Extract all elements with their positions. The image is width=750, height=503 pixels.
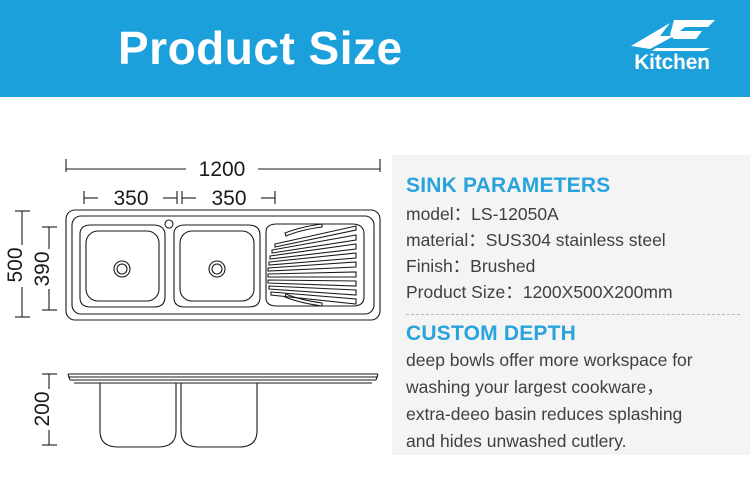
sink-front-view xyxy=(68,374,378,447)
spec-row-product-size: Product Size：1200X500X200mm xyxy=(406,279,740,305)
dimension-label-overall-width: 1200 xyxy=(199,158,246,181)
dimension-label-bowl1-width: 350 xyxy=(113,187,148,210)
spec-row-model: model：LS-12050A xyxy=(406,201,740,227)
sink-bowl-left xyxy=(80,225,165,307)
ribbed-drainboard xyxy=(266,224,364,306)
sink-drawing-svg: 1200 350 350 xyxy=(0,97,392,503)
brand-logo: Kitchen xyxy=(618,18,726,80)
dimension-label-inner-depth: 390 xyxy=(31,251,54,286)
custom-depth-description: deep bowls offer more workspace for wash… xyxy=(406,347,740,455)
section-divider xyxy=(406,314,740,315)
custom-depth-line-2: washing your largest cookware， xyxy=(406,374,740,401)
tap-hole xyxy=(165,220,173,228)
spec-row-finish: Finish：Brushed xyxy=(406,253,740,279)
sink-outer-rim xyxy=(66,210,380,320)
product-size-page: Product Size Kitchen 1200 xyxy=(0,0,750,503)
spec-row-material: material：SUS304 stainless steel xyxy=(406,227,740,253)
kitchen-k-swoosh-logo-icon xyxy=(630,18,716,52)
sink-parameters-heading: SINK PARAMETERS xyxy=(406,173,740,199)
dimension-label-bowl-height: 200 xyxy=(31,391,54,426)
custom-depth-line-4: and hides unwashed cutlery. xyxy=(406,428,740,455)
custom-depth-line-3: extra-deeo basin reduces splashing xyxy=(406,401,740,428)
dimension-label-bowl2-width: 350 xyxy=(211,187,246,210)
custom-depth-line-1: deep bowls offer more workspace for xyxy=(406,347,740,374)
sink-bowl-right xyxy=(174,225,260,307)
page-title: Product Size xyxy=(118,19,403,77)
technical-drawing: 1200 350 350 xyxy=(0,97,392,503)
drain-hole-left xyxy=(114,261,130,277)
drain-hole-right xyxy=(209,261,225,277)
sink-parameters-list: model：LS-12050A material：SUS304 stainles… xyxy=(406,201,740,305)
brand-logo-text: Kitchen xyxy=(618,51,726,75)
info-panel: SINK PARAMETERS model：LS-12050A material… xyxy=(392,155,750,455)
dimension-label-overall-depth: 500 xyxy=(4,247,27,282)
page-header: Product Size Kitchen xyxy=(0,0,750,97)
custom-depth-heading: CUSTOM DEPTH xyxy=(406,321,740,347)
